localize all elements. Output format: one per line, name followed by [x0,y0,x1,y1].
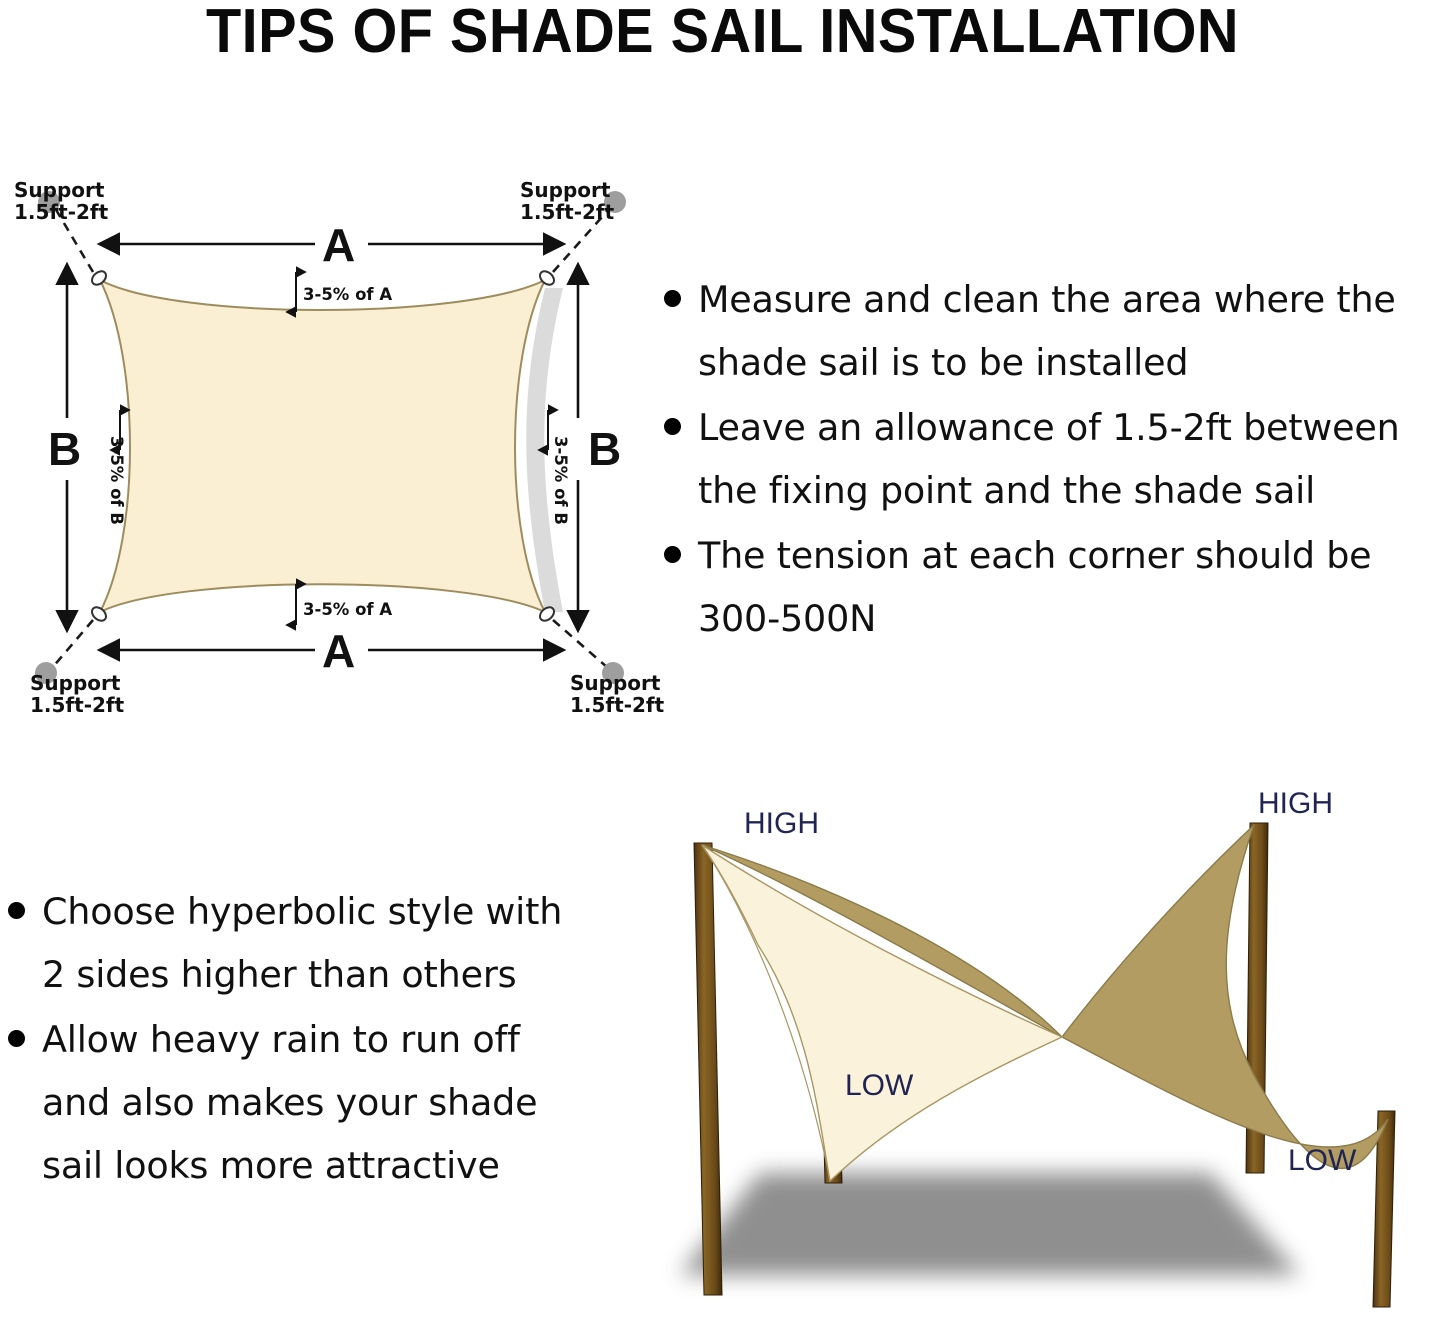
dim-b-left-curve-label: 3-5% of B [107,436,126,525]
support-label-br-line1: Support [570,671,661,695]
tip-line: Leave an allowance of 1.5-2ft between [698,406,1400,449]
bullet-dot-icon [8,1030,25,1047]
bullet-dot-icon [664,290,681,307]
label-high-left: HIGH [744,807,819,840]
support-label-br-line2: 1.5ft-2ft [570,693,665,717]
ground-shadow [680,1173,1300,1275]
dim-a-top-label: A [322,219,355,271]
label-high-right: HIGH [1258,787,1333,820]
tip-line: 2 sides higher than others [42,953,516,996]
tips-list-top: Measure and clean the area where the sha… [648,268,1445,668]
support-label-bl-line2: 1.5ft-2ft [30,693,125,717]
dim-a-top-curve-label: 3-5% of A [303,285,392,304]
dim-a-bottom-label: A [322,625,355,677]
post-high-left [694,843,722,1295]
dim-b-right-curve-label: 3-5% of B [551,436,570,525]
dim-b-right: B 3-5% of B [548,285,621,610]
dim-b-left: B 3-5% of B [48,285,126,610]
tip-line: Allow heavy rain to run off [42,1018,520,1061]
list-item: Allow heavy rain to run off and also mak… [0,1008,625,1197]
dim-b-right-label: B [588,423,621,475]
tip-line: and also makes your shade [42,1081,537,1124]
dim-a-bottom: A 3-5% of A [120,584,543,677]
page-title: TIPS OF SHADE SAIL INSTALLATION [51,0,1395,67]
support-label-tl-line2: 1.5ft-2ft [14,200,109,224]
dim-b-left-label: B [48,423,81,475]
dim-a-bottom-curve-label: 3-5% of A [303,600,392,619]
sail-surface-near [702,845,1062,1181]
label-low-right: LOW [1288,1144,1357,1177]
bullet-dot-icon [664,546,681,563]
support-label-bl-line1: Support [30,671,121,695]
support-label-tr-line1: Support [520,178,611,202]
infographic-page: TIPS OF SHADE SAIL INSTALLATION [0,0,1445,1319]
list-item: Choose hyperbolic style with 2 sides hig… [0,880,625,1006]
bullet-dot-icon [8,902,25,919]
rect-sail-diagram: Support 1.5ft-2ft Support 1.5ft-2ft Supp… [0,160,660,730]
tip-line: the fixing point and the shade sail [698,469,1315,512]
bullet-dot-icon [664,418,681,435]
support-label-tr-line2: 1.5ft-2ft [520,200,615,224]
cable-bottom-left [52,620,93,668]
label-low-left: LOW [845,1069,914,1102]
tip-line: Measure and clean the area where the [698,278,1396,321]
tip-line: sail looks more attractive [42,1144,500,1187]
tip-line: 300-500N [698,597,876,640]
support-label-tl-line1: Support [14,178,105,202]
hyperbolic-sail-diagram: HIGH HIGH LOW LOW [650,775,1445,1319]
cable-bottom-right [553,620,608,668]
tips-list-bottom: Choose hyperbolic style with 2 sides hig… [0,880,625,1220]
tip-line: shade sail is to be installed [698,341,1188,384]
list-item: The tension at each corner should be 300… [648,524,1445,650]
list-item: Leave an allowance of 1.5-2ft between th… [648,396,1445,522]
list-item: Measure and clean the area where the sha… [648,268,1445,394]
tip-line: Choose hyperbolic style with [42,890,562,933]
tip-line: The tension at each corner should be [698,534,1371,577]
sail-fabric [100,280,545,612]
